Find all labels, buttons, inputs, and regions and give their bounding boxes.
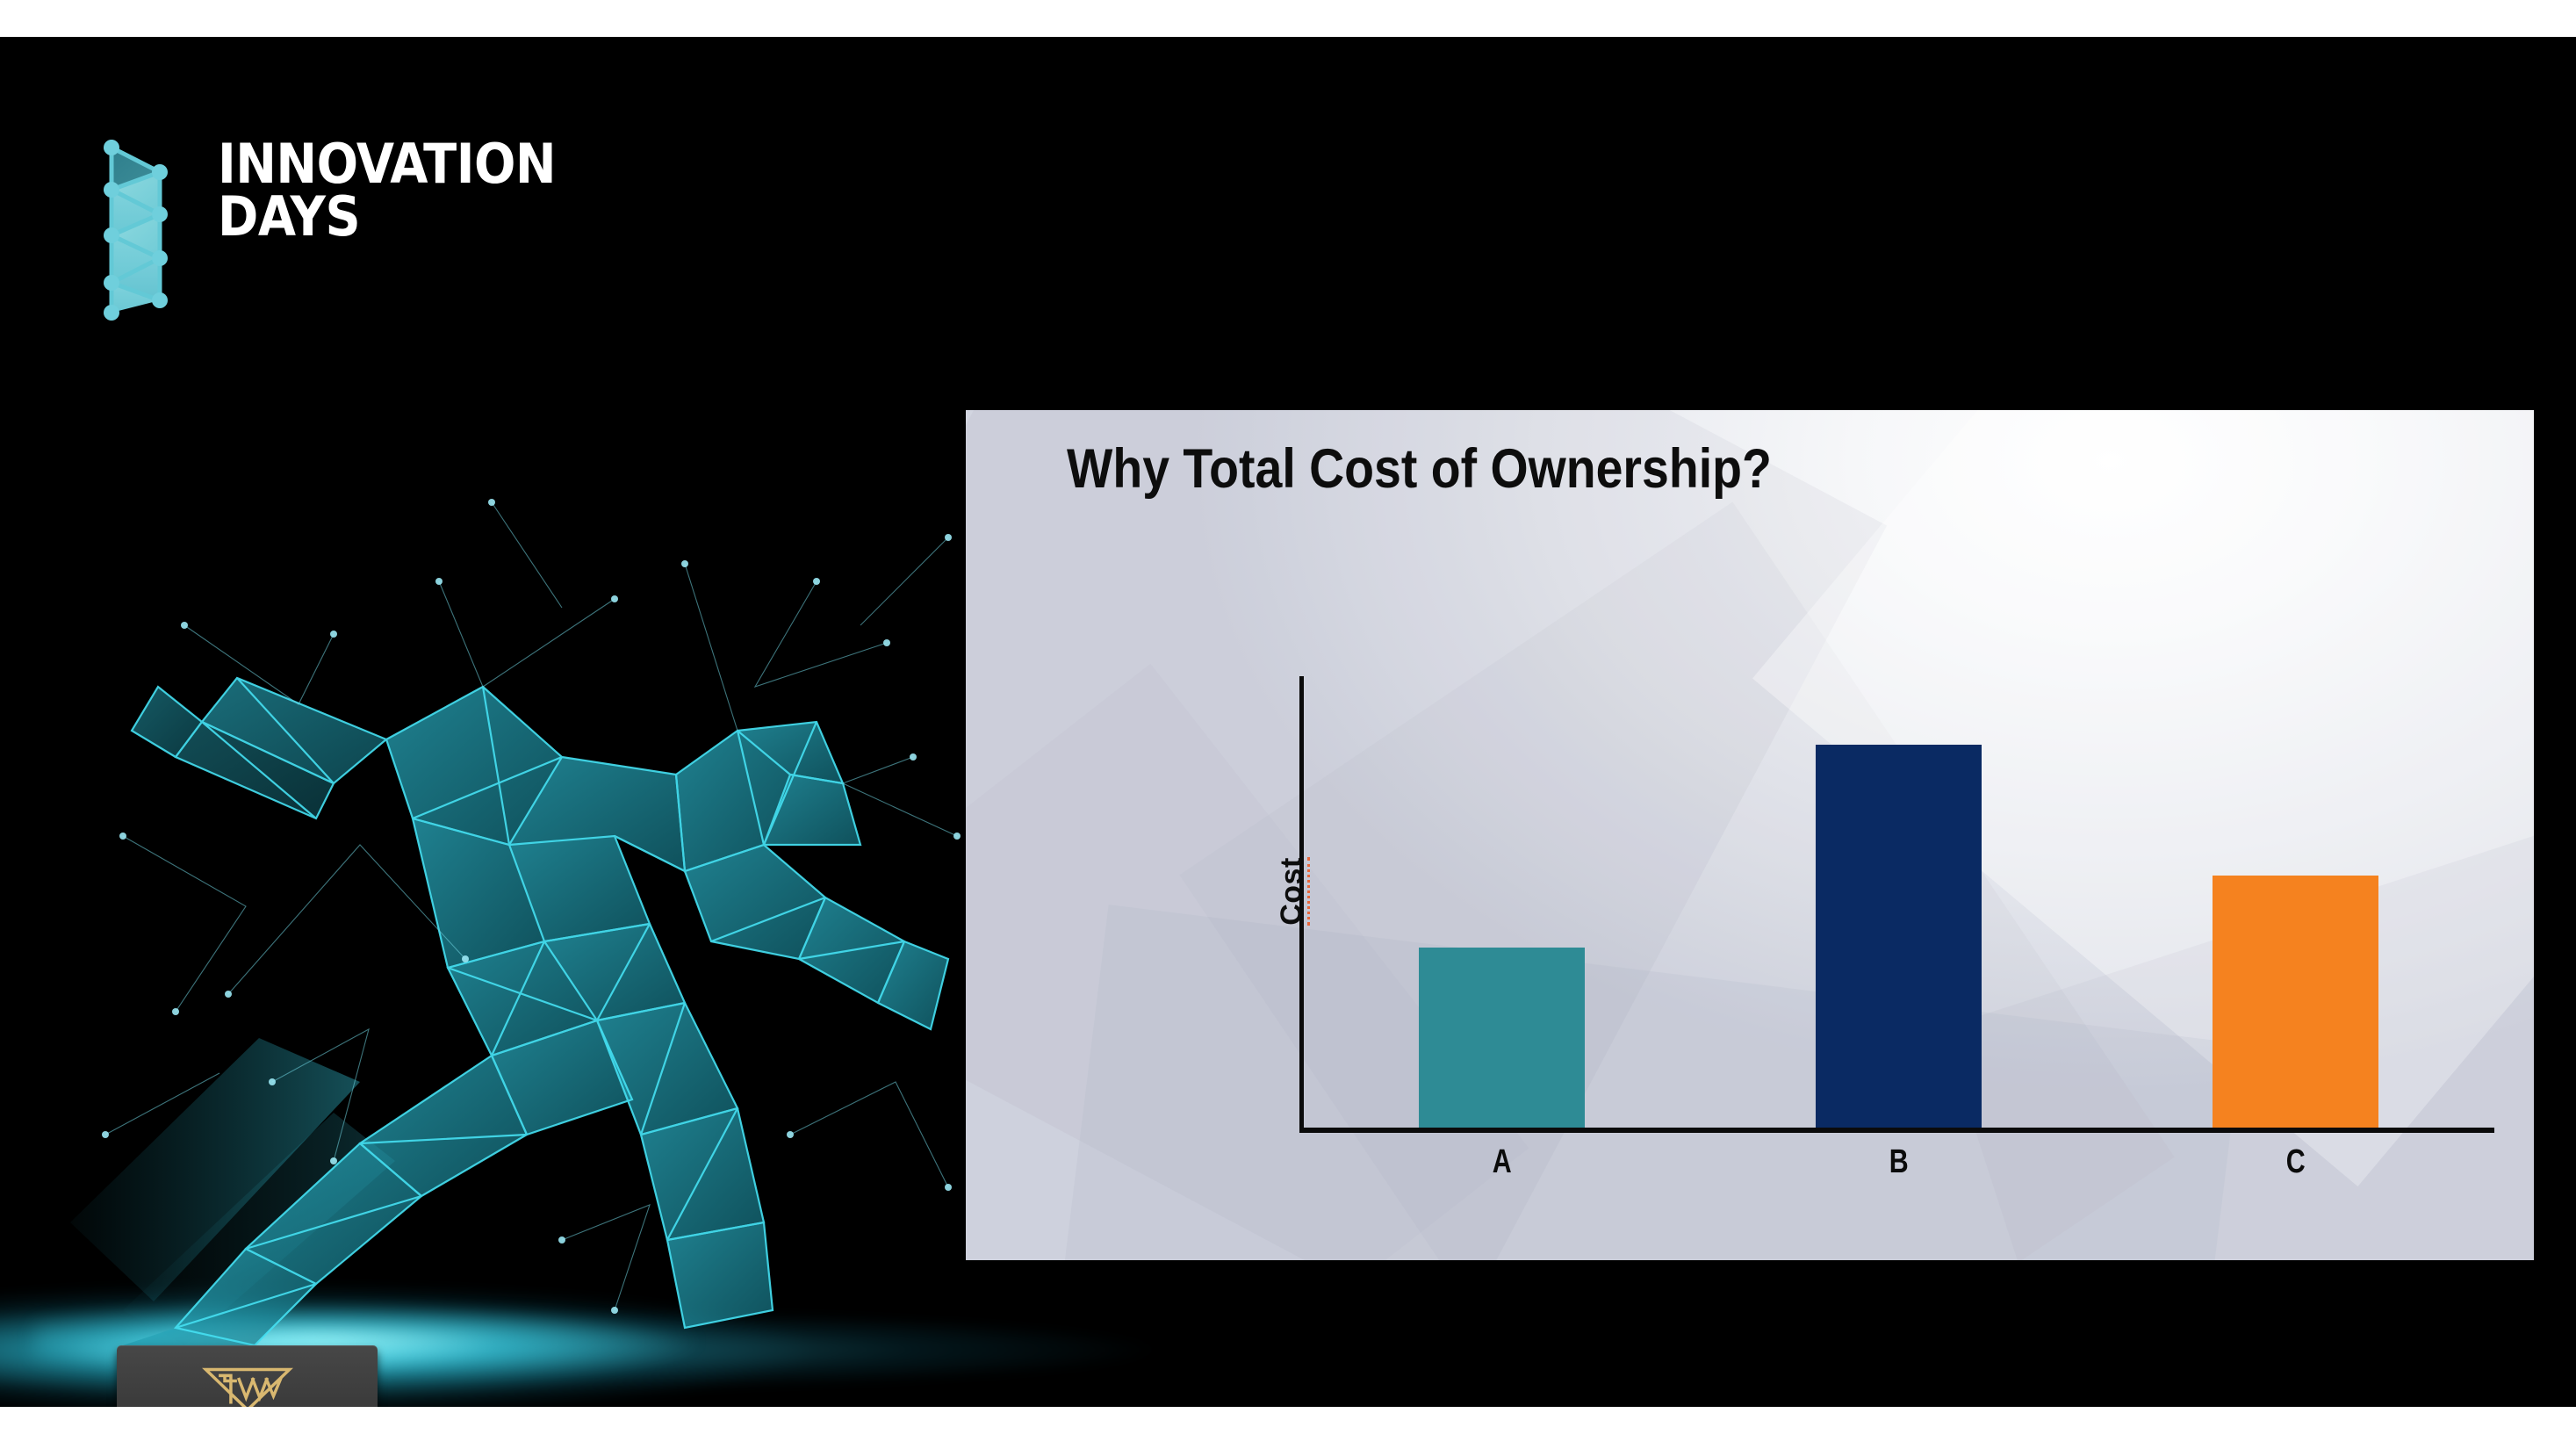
low-poly-running-athlete — [70, 467, 966, 1354]
chart-title: Why Total Cost of Ownership? — [1067, 437, 1772, 501]
brand-wordmark: INNOVATION DAYS — [218, 133, 556, 242]
x-tick-label-a: A — [1493, 1145, 1512, 1179]
innovation-days-lockup: INNOVATION DAYS — [97, 133, 556, 327]
bar-column: C — [2118, 676, 2475, 1128]
chart-panel: Why Total Cost of Ownership? Cost A B — [966, 410, 2534, 1260]
bar-b — [1816, 745, 1982, 1128]
trelleborg-logo-plate: TRELLEBORG — [117, 1345, 378, 1407]
slide-canvas: INNOVATION DAYS — [0, 0, 2576, 1449]
x-tick-label-c: C — [2286, 1145, 2306, 1179]
bar-a — [1419, 948, 1585, 1128]
brand-line-1: INNOVATION — [218, 138, 556, 191]
brand-line-2: DAYS — [218, 191, 556, 243]
bar-column: A — [1324, 676, 1681, 1128]
trelleborg-triangle-mark-icon — [202, 1366, 293, 1408]
x-tick-label-b: B — [1889, 1145, 1909, 1179]
bar-chart-plot: Cost A B C — [1299, 676, 2524, 1133]
bar-column: B — [1721, 676, 2078, 1128]
innovation-days-polygon-icon — [97, 133, 184, 327]
x-axis-line — [1299, 1128, 2494, 1133]
slide-stage: INNOVATION DAYS — [0, 37, 2576, 1407]
bar-c — [2213, 876, 2378, 1128]
bar-group: A B C — [1304, 676, 2494, 1128]
